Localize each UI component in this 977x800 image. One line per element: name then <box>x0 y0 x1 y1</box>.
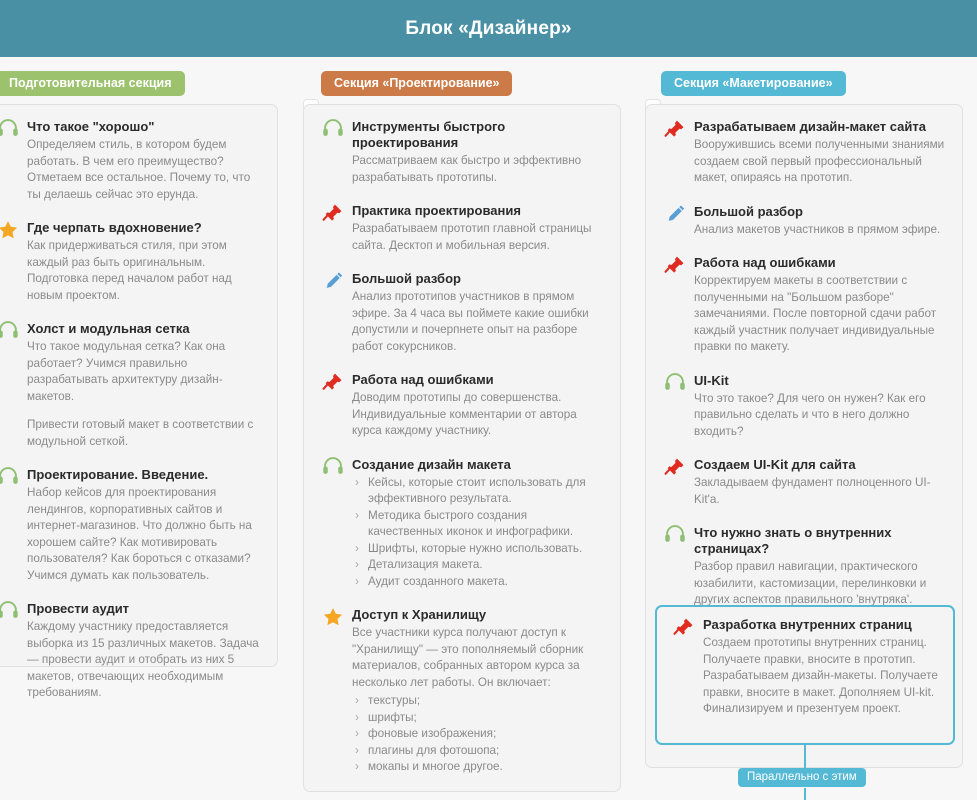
curriculum-item: Холст и модульная сеткаЧто такое модульн… <box>0 321 261 450</box>
section-badge-design[interactable]: Секция «Проектирование» <box>321 71 512 96</box>
item-description: Анализ макетов участников в прямом эфире… <box>694 222 946 239</box>
item-sublist-entry: мокапы и многое другое. <box>352 759 604 776</box>
item-description: Корректируем макеты в соответствии с пол… <box>694 273 946 356</box>
star-icon <box>322 607 344 625</box>
item-description: Рассматриваем как быстро и эффективно ра… <box>352 153 604 186</box>
item-title: Проектирование. Введение. <box>27 467 261 483</box>
item-sublist: текстуры;шрифты;фоновые изображения;плаг… <box>352 693 604 776</box>
item-title: Большой разбор <box>352 271 604 287</box>
curriculum-item: Инструменты быстрого проектированияРассм… <box>320 119 604 186</box>
pushpin-icon <box>673 617 695 635</box>
item-sublist-entry: Детализация макета. <box>352 557 604 574</box>
item-sublist-entry: Шрифты, которые нужно использовать. <box>352 541 604 558</box>
headphones-icon <box>0 467 19 485</box>
item-title: Что такое "хорошо" <box>27 119 261 135</box>
page-root: Блок «Дизайнер» Подготовительная секция … <box>0 0 977 800</box>
curriculum-item: Что нужно знать о внутренних страницах?Р… <box>662 525 946 609</box>
curriculum-item: Большой разборАнализ прототипов участник… <box>320 271 604 355</box>
item-sublist-entry: Аудит созданного макета. <box>352 574 604 591</box>
item-title: Разрабатываем дизайн-макет сайта <box>694 119 946 135</box>
item-title: Холст и модульная сетка <box>27 321 261 337</box>
star-icon <box>0 220 19 238</box>
item-description: Определяем стиль, в котором будем работа… <box>27 137 261 203</box>
item-sublist-entry: фоновые изображения; <box>352 726 604 743</box>
item-description: Доводим прототипы до совершенства. Индив… <box>352 390 604 440</box>
page-title: Блок «Дизайнер» <box>405 18 571 40</box>
curriculum-item: Работа над ошибкамиДоводим прототипы до … <box>320 372 604 440</box>
curriculum-item: Что такое "хорошо"Определяем стиль, в ко… <box>0 119 261 203</box>
item-description: Разрабатываем прототип главной страницы … <box>352 221 604 254</box>
item-title: Что нужно знать о внутренних страницах? <box>694 525 946 557</box>
item-sublist-entry: Методика быстрого создания качественных … <box>352 508 604 541</box>
item-title: Создаем UI-Kit для сайта <box>694 457 946 473</box>
item-title: Разработка внутренних страниц <box>703 617 939 633</box>
connector-line-top <box>804 745 806 769</box>
item-title: Доступ к Хранилищу <box>352 607 604 623</box>
item-sublist: Кейсы, которые стоит использовать для эф… <box>352 475 604 591</box>
item-title: Создание дизайн макета <box>352 457 604 473</box>
item-title: Работа над ошибками <box>352 372 604 388</box>
item-title: Провести аудит <box>27 601 261 617</box>
pencil-icon <box>664 204 686 222</box>
highlight-card-internal-pages[interactable]: Разработка внутренних страницСоздаем про… <box>655 605 955 745</box>
item-description: Вооружившись всеми полученными знаниями … <box>694 137 946 187</box>
section-card-preparatory: Что такое "хорошо"Определяем стиль, в ко… <box>0 104 278 667</box>
pushpin-icon <box>322 203 344 221</box>
item-description: Набор кейсов для проектирования лендинго… <box>27 485 261 584</box>
item-description: Что это такое? Для чего он нужен? Как ег… <box>694 391 946 441</box>
section-badge-preparatory[interactable]: Подготовительная секция <box>0 71 185 96</box>
headphones-icon <box>0 321 19 339</box>
headphones-icon <box>0 601 19 619</box>
connector-label-parallel: Параллельно с этим <box>738 768 866 787</box>
item-description: Анализ прототипов участников в прямом эф… <box>352 289 604 355</box>
item-sublist-entry: шрифты; <box>352 710 604 727</box>
headphones-icon <box>664 525 686 543</box>
curriculum-item: Разрабатываем дизайн-макет сайтаВооружив… <box>662 119 946 187</box>
pencil-icon <box>322 271 344 289</box>
pushpin-icon <box>664 457 686 475</box>
item-description: Что такое модульная сетка? Как она работ… <box>27 339 261 405</box>
section-card-design: Инструменты быстрого проектированияРассм… <box>303 104 621 792</box>
connector-line-bottom <box>804 788 806 800</box>
item-title: Инструменты быстрого проектирования <box>352 119 604 151</box>
curriculum-item: Практика проектированияРазрабатываем про… <box>320 203 604 254</box>
curriculum-item: Создание дизайн макетаКейсы, которые сто… <box>320 457 604 591</box>
item-description: Как придерживаться стиля, при этом кажды… <box>27 238 261 304</box>
pushpin-icon <box>322 372 344 390</box>
headphones-icon <box>322 457 344 475</box>
curriculum-item: Доступ к ХранилищуВсе участники курса по… <box>320 607 604 776</box>
item-sublist-entry: плагины для фотошопа; <box>352 743 604 760</box>
curriculum-item: Провести аудитКаждому участнику предоста… <box>0 601 261 702</box>
item-description: Привести готовый макет в соответствии с … <box>27 417 261 450</box>
item-title: UI-Kit <box>694 373 946 389</box>
curriculum-item: Проектирование. Введение.Набор кейсов дл… <box>0 467 261 584</box>
curriculum-item: UI-KitЧто это такое? Для чего он нужен? … <box>662 373 946 441</box>
headphones-icon <box>0 119 19 137</box>
item-description: Каждому участнику предоставляется выборк… <box>27 619 261 702</box>
curriculum-item: Разработка внутренних страницСоздаем про… <box>671 617 939 718</box>
curriculum-item: Создаем UI-Kit для сайтаЗакладываем фунд… <box>662 457 946 508</box>
item-description: Закладываем фундамент полноценного UI-Ki… <box>694 475 946 508</box>
item-title: Где черпать вдохновение? <box>27 220 261 236</box>
item-description: Разбор правил навигации, практического ю… <box>694 559 946 609</box>
pushpin-icon <box>664 119 686 137</box>
section-badge-layout[interactable]: Секция «Макетирование» <box>661 71 846 96</box>
headphones-icon <box>664 373 686 391</box>
pushpin-icon <box>664 255 686 273</box>
item-title: Практика проектирования <box>352 203 604 219</box>
item-sublist-entry: Кейсы, которые стоит использовать для эф… <box>352 475 604 508</box>
item-description: Все участники курса получают доступ к "Х… <box>352 625 604 691</box>
item-title: Большой разбор <box>694 204 946 220</box>
item-sublist-entry: текстуры; <box>352 693 604 710</box>
curriculum-item: Где черпать вдохновение?Как придерживать… <box>0 220 261 304</box>
item-description: Создаем прототипы внутренних страниц. По… <box>703 635 939 718</box>
item-title: Работа над ошибками <box>694 255 946 271</box>
header-bar: Блок «Дизайнер» <box>0 0 977 57</box>
curriculum-item: Большой разборАнализ макетов участников … <box>662 204 946 239</box>
curriculum-item: Работа над ошибкамиКорректируем макеты в… <box>662 255 946 356</box>
headphones-icon <box>322 119 344 137</box>
